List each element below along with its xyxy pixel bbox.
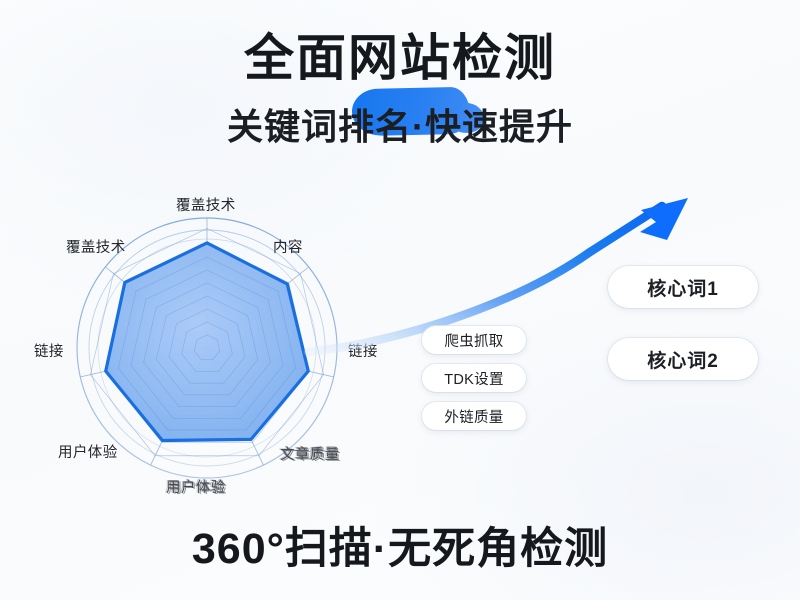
keyword-pill-1[interactable]: 核心词1 (608, 266, 758, 308)
radar-label-upper-right: 内容 (273, 236, 303, 257)
tag-pill-tdk[interactable]: TDK设置 (422, 364, 526, 392)
tag-pill-backlink[interactable]: 外链质量 (422, 402, 526, 430)
poster-canvas: 全面网站检测 关键词排名·快速提升 (0, 0, 800, 600)
page-title: 全面网站检测 (0, 30, 800, 86)
footer-title: 360°扫描·无死角检测 (0, 524, 800, 574)
radar-label-upper-left: 覆盖技术 (66, 236, 126, 257)
radar-label-bottom: 用户体验 (166, 476, 226, 497)
keyword-pill-2[interactable]: 核心词2 (608, 338, 758, 380)
radar-label-lower-right: 文章质量 (280, 443, 340, 464)
radar-label-left: 链接 (34, 340, 64, 361)
radar-label-lower-left: 用户体验 (58, 441, 118, 462)
page-subtitle: 关键词排名·快速提升 (0, 106, 800, 148)
tag-pill-crawl[interactable]: 爬虫抓取 (422, 326, 526, 354)
radar-label-top: 覆盖技术 (176, 194, 236, 215)
headline-block: 全面网站检测 关键词排名·快速提升 (0, 30, 800, 148)
